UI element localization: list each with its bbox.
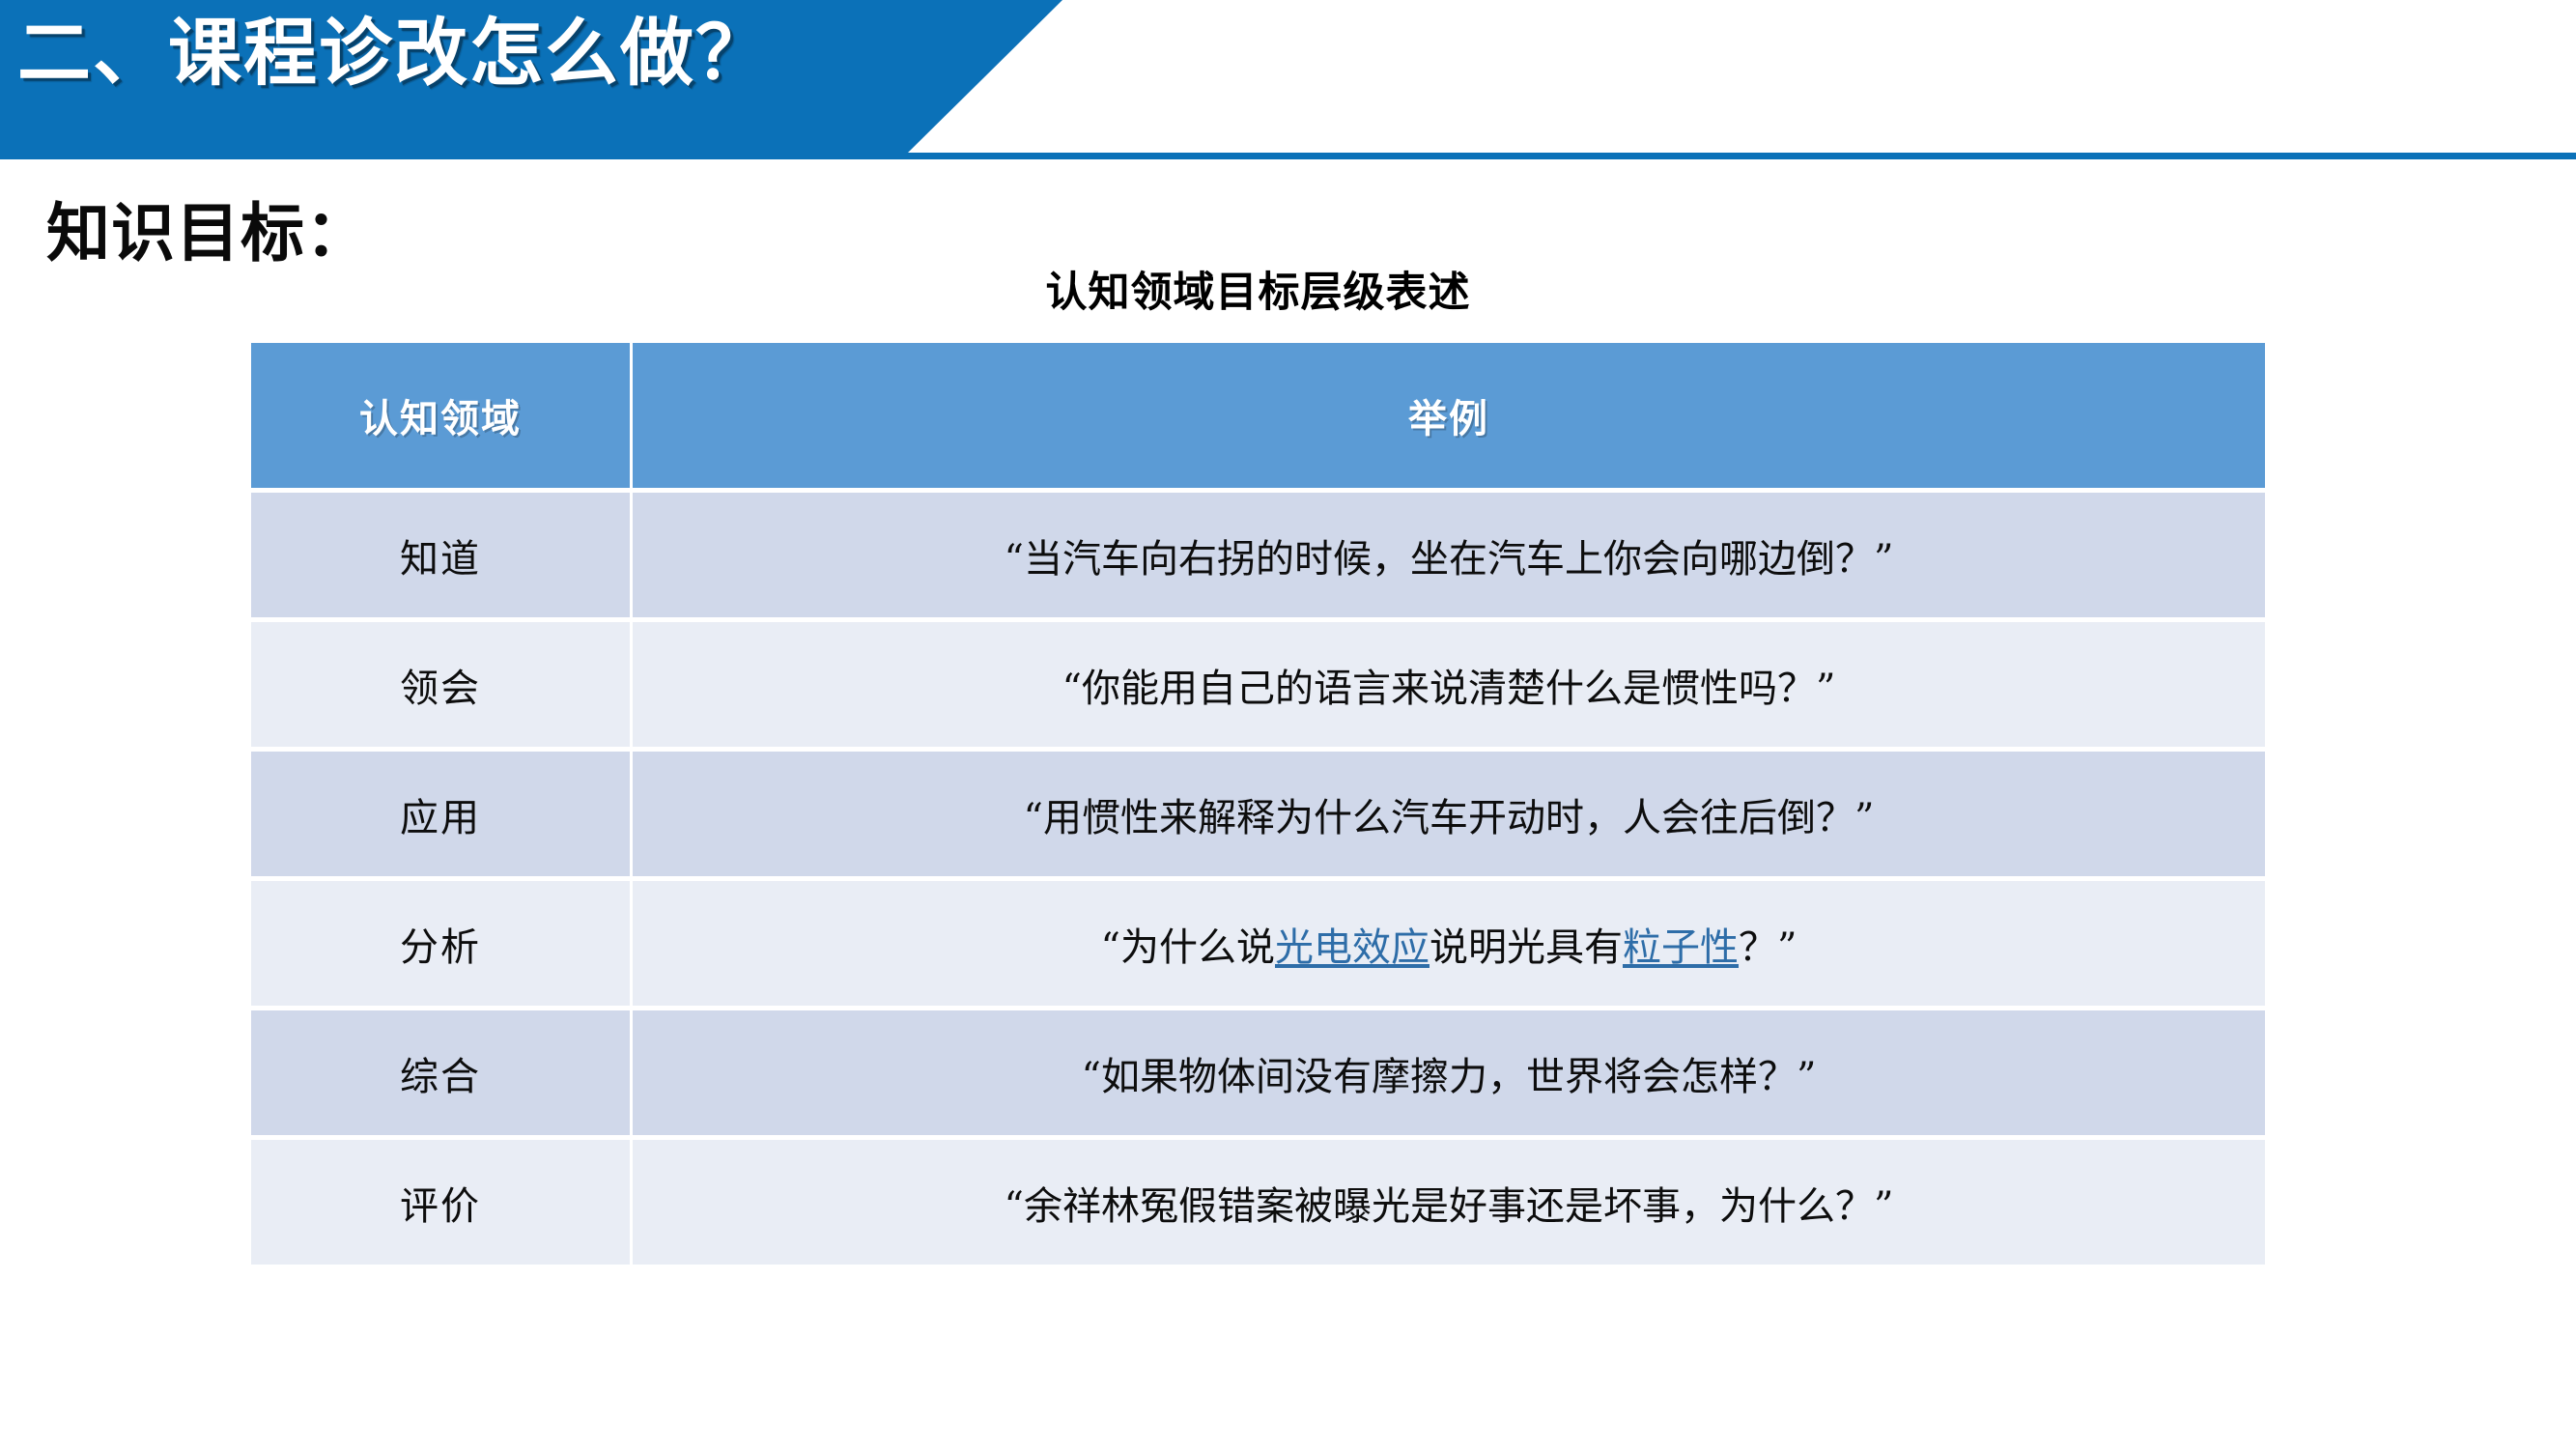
example-text: “余祥林冤假错案被曝光是好事还是坏事，为什么？” [1005,1175,1894,1231]
table-row: 分析“为什么说光电效应说明光具有粒子性？” [251,881,2265,1010]
cell-example: “如果物体间没有摩擦力，世界将会怎样？” [633,1010,2265,1140]
example-text-segment: ？” [1739,925,1797,970]
table-caption: 认知领域目标层级表述 [251,259,2265,319]
cell-cognitive-domain: 领会 [251,622,633,752]
table-body: 知道“当汽车向右拐的时候，坐在汽车上你会向哪边倒？”领会“你能用自己的语言来说清… [251,488,2265,1265]
table-row: 领会“你能用自己的语言来说清楚什么是惯性吗？” [251,622,2265,752]
cell-cognitive-domain: 分析 [251,881,633,1010]
example-text: “为什么说光电效应说明光具有粒子性？” [1101,916,1798,972]
example-text-segment: “余祥林冤假错案被曝光是好事还是坏事，为什么？” [1005,1184,1894,1229]
cognitive-domain-table: 认知领域 举例 知道“当汽车向右拐的时候，坐在汽车上你会向哪边倒？”领会“你能用… [251,343,2265,1265]
example-text-segment: 说明光具有 [1430,925,1623,970]
cell-example: “为什么说光电效应说明光具有粒子性？” [633,881,2265,1010]
cell-example: “用惯性来解释为什么汽车开动时，人会往后倒？” [633,752,2265,881]
example-hyperlink[interactable]: 粒子性 [1623,925,1739,970]
example-text-segment: “你能用自己的语言来说清楚什么是惯性吗？” [1062,667,1836,711]
cell-example: “当汽车向右拐的时候，坐在汽车上你会向哪边倒？” [633,488,2265,622]
table-row: 应用“用惯性来解释为什么汽车开动时，人会往后倒？” [251,752,2265,881]
example-text: “用惯性来解释为什么汽车开动时，人会往后倒？” [1024,786,1875,842]
cell-cognitive-domain: 评价 [251,1140,633,1265]
cell-example: “你能用自己的语言来说清楚什么是惯性吗？” [633,622,2265,752]
example-text: “如果物体间没有摩擦力，世界将会怎样？” [1082,1045,1817,1101]
table-row: 知道“当汽车向右拐的时候，坐在汽车上你会向哪边倒？” [251,488,2265,622]
cell-example: “余祥林冤假错案被曝光是好事还是坏事，为什么？” [633,1140,2265,1265]
example-text-segment: “如果物体间没有摩擦力，世界将会怎样？” [1082,1055,1817,1099]
header-divider-rule [0,153,2576,159]
example-text: “你能用自己的语言来说清楚什么是惯性吗？” [1062,657,1836,713]
table-header: 认知领域 举例 [251,343,2265,488]
example-text-segment: “当汽车向右拐的时候，坐在汽车上你会向哪边倒？” [1005,537,1894,582]
example-text-segment: “为什么说 [1101,925,1275,970]
example-text: “当汽车向右拐的时候，坐在汽车上你会向哪边倒？” [1005,527,1894,583]
column-header-example: 举例 [633,343,2265,488]
column-header-domain: 认知领域 [251,343,633,488]
cell-cognitive-domain: 综合 [251,1010,633,1140]
cell-cognitive-domain: 知道 [251,488,633,622]
example-hyperlink[interactable]: 光电效应 [1275,925,1430,970]
example-text-segment: “用惯性来解释为什么汽车开动时，人会往后倒？” [1024,796,1875,840]
cell-cognitive-domain: 应用 [251,752,633,881]
table-header-row: 认知领域 举例 [251,343,2265,488]
table-row: 综合“如果物体间没有摩擦力，世界将会怎样？” [251,1010,2265,1140]
page-title: 二、课程诊改怎么做？ [17,14,771,95]
table-row: 评价“余祥林冤假错案被曝光是好事还是坏事，为什么？” [251,1140,2265,1265]
